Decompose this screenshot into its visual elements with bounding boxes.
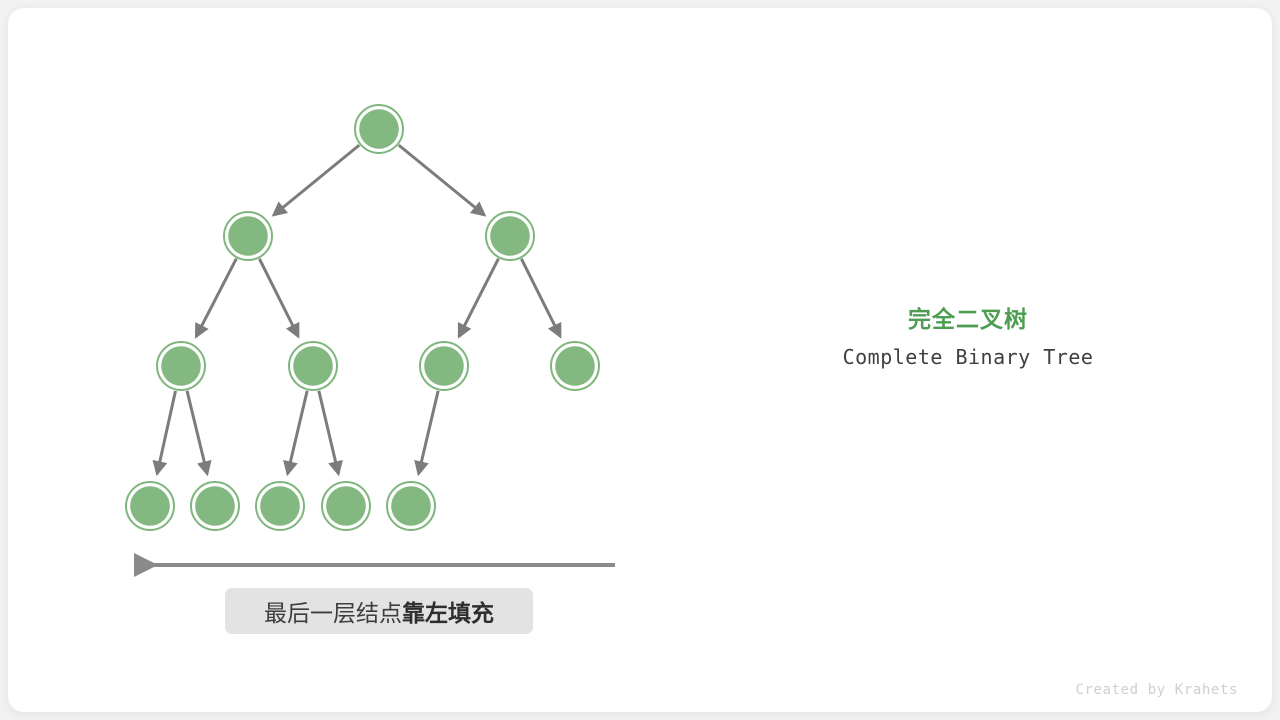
tree-edge	[399, 145, 485, 215]
tree-node	[387, 482, 435, 530]
tree-node-fill	[326, 486, 366, 526]
tree-edge	[319, 391, 339, 474]
tree-node-fill	[293, 346, 333, 386]
tree-node-fill	[391, 486, 431, 526]
tree-edge	[274, 145, 360, 215]
tree-node-fill	[195, 486, 235, 526]
tree-node	[157, 342, 205, 390]
caption-text-bold: 靠左填充	[402, 601, 494, 627]
page-subtitle: Complete Binary Tree	[768, 345, 1168, 369]
watermark-credit: Created by Krahets	[1075, 682, 1238, 698]
tree-edge	[419, 391, 439, 474]
screenshot-stage: 完全二叉树 Complete Binary Tree 最后一层结点靠左填充 Cr…	[0, 0, 1280, 720]
caption-badge: 最后一层结点靠左填充	[225, 588, 533, 634]
caption-text-normal: 最后一层结点	[264, 601, 402, 627]
tree-node	[191, 482, 239, 530]
tree-node	[486, 212, 534, 260]
tree-node-fill	[490, 216, 530, 256]
tree-node-fill	[555, 346, 595, 386]
tree-node	[224, 212, 272, 260]
page-title: 完全二叉树	[768, 300, 1168, 334]
tree-edge	[259, 259, 298, 337]
tree-node	[256, 482, 304, 530]
tree-node-fill	[228, 216, 268, 256]
tree-node-fill	[260, 486, 300, 526]
tree-node	[322, 482, 370, 530]
tree-node	[289, 342, 337, 390]
tree-node-fill	[161, 346, 201, 386]
tree-edge	[187, 391, 207, 474]
tree-node	[420, 342, 468, 390]
tree-node-fill	[424, 346, 464, 386]
tree-edge	[157, 391, 175, 474]
tree-node	[126, 482, 174, 530]
tree-edge	[196, 259, 236, 337]
tree-node-layer	[126, 105, 599, 530]
tree-edge	[288, 391, 308, 474]
tree-node-fill	[130, 486, 170, 526]
tree-edge-layer	[157, 145, 560, 474]
tree-edge	[459, 259, 499, 337]
tree-node-fill	[359, 109, 399, 149]
caption-text: 最后一层结点靠左填充	[264, 594, 494, 628]
tree-node	[355, 105, 403, 153]
tree-edge	[521, 259, 560, 337]
tree-node	[551, 342, 599, 390]
